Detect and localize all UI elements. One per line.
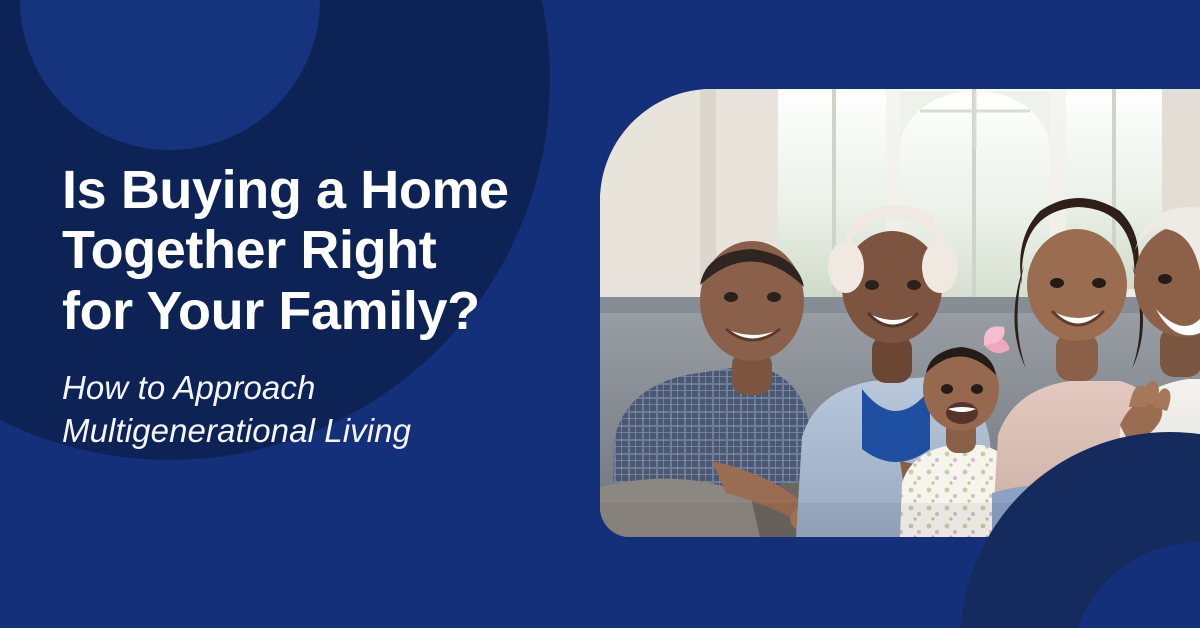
headline: Is Buying a Home Together Right for Your… xyxy=(62,160,582,341)
text-block: Is Buying a Home Together Right for Your… xyxy=(62,160,582,453)
subheadline: How to Approach Multigenerational Living xyxy=(62,367,582,453)
banner-canvas: Is Buying a Home Together Right for Your… xyxy=(0,0,1200,628)
